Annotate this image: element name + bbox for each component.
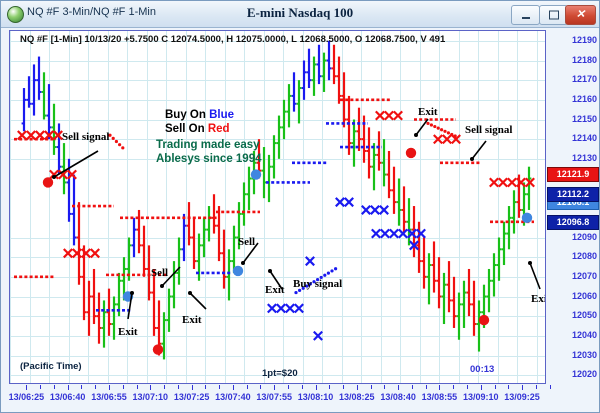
promo-red-word: Red [208,123,230,135]
time-axis-minor-tick [288,385,289,389]
time-axis-minor-tick [219,385,220,389]
time-axis-label: 13/08:10 [298,392,334,402]
price-axis-tick: 12020 [572,369,597,379]
promo-brand: Ablesys since 1994 [156,153,262,165]
time-axis-minor-tick [205,385,206,389]
trading-chart-window: NQ #F 3-Min/NQ #F 1-Min E-mini Nasdaq 10… [0,0,600,413]
price-axis-tick: 12030 [572,350,597,360]
time-axis-label: 13/07:25 [174,392,210,402]
timezone-label: (Pacific Time) [20,361,82,372]
close-button[interactable]: ✕ [565,5,596,25]
time-axis-tick [357,385,358,390]
time-axis-minor-tick [536,385,537,389]
time-axis-minor-tick [247,385,248,389]
minimize-icon [522,17,530,19]
time-axis-tick [233,385,234,390]
time-axis-minor-tick [495,385,496,389]
time-axis-label: 13/07:10 [133,392,169,402]
time-axis-minor-tick [426,385,427,389]
window-title-bar: NQ #F 3-Min/NQ #F 1-Min E-mini Nasdaq 10… [1,1,599,28]
time-axis-label: 13/07:55 [256,392,292,402]
promo-line-buy: Buy On Blue [165,109,234,121]
time-axis-label: 13/08:25 [339,392,375,402]
maximize-icon [549,11,559,20]
ablesys-logo-icon [7,6,24,23]
current-price-tag[interactable]: 12121.9 [547,167,599,182]
price-axis[interactable]: 1219012180121701216012150121401213012090… [547,30,599,384]
candlestick-series [10,31,546,384]
price-axis-tick: 12160 [572,94,597,104]
price-axis-tick: 12150 [572,114,597,124]
time-axis-minor-tick [467,385,468,389]
time-axis-label: 13/08:40 [380,392,416,402]
time-axis-tick [481,385,482,390]
close-icon: ✕ [576,10,585,21]
price-axis-tick: 12050 [572,310,597,320]
time-axis-tick [398,385,399,390]
promo-blue-word: Blue [209,109,234,121]
price-axis-tick: 12140 [572,133,597,143]
current-price-tag[interactable]: 12112.2 [547,187,599,202]
time-axis-tick [522,385,523,390]
time-axis-minor-tick [329,385,330,389]
price-axis-tick: 12130 [572,153,597,163]
annotation-label: Sell [238,236,255,248]
countdown-timer: 00:13 [470,364,494,375]
maximize-button[interactable] [539,5,568,25]
window-title-symbol: NQ #F 3-Min/NQ #F 1-Min [27,6,156,18]
time-axis-tick [192,385,193,390]
current-price-tag[interactable]: 12096.8 [547,215,599,230]
time-axis-minor-tick [164,385,165,389]
time-axis-minor-tick [302,385,303,389]
time-axis-tick [439,385,440,390]
price-axis-tick: 12080 [572,251,597,261]
annotation-label: Exit [531,293,546,305]
promo-line-sell: Sell On Red [165,123,230,135]
promo-buy-text: Buy On [165,109,209,121]
promo-sell-text: Sell On [165,123,208,135]
annotation-label: Sell signal [62,131,109,143]
annotation-label: Exit [182,314,202,326]
time-axis-minor-tick [123,385,124,389]
time-axis-label: 13/08:55 [422,392,458,402]
time-axis-minor-tick [81,385,82,389]
time-axis-label: 13/06:40 [50,392,86,402]
price-axis-tick: 12180 [572,55,597,65]
time-axis-minor-tick [95,385,96,389]
time-axis-tick [316,385,317,390]
annotation-label: Exit [418,106,438,118]
time-axis: 13/06:2513/06:4013/06:5513/07:1013/07:25… [9,385,546,411]
time-axis-label: 13/09:10 [463,392,499,402]
time-axis-minor-tick [371,385,372,389]
time-axis-minor-tick [384,385,385,389]
time-axis-minor-tick [137,385,138,389]
price-axis-tick: 12190 [572,35,597,45]
time-axis-minor-tick [260,385,261,389]
time-axis-tick [150,385,151,390]
time-axis-label: 13/06:25 [9,392,45,402]
chart-plot-area[interactable]: NQ #F [1-Min] 10/13/20 +5.7500 C 12074.5… [9,30,546,384]
time-axis-minor-tick [453,385,454,389]
time-axis-tick [274,385,275,390]
annotation-label: Exit [118,326,138,338]
price-axis-tick: 12070 [572,271,597,281]
promo-tagline: Trading made easy [156,139,260,151]
ohlc-info-line: NQ #F [1-Min] 10/13/20 +5.7500 C 12074.5… [20,34,445,45]
price-axis-tick: 12170 [572,74,597,84]
time-axis-minor-tick [508,385,509,389]
time-axis-minor-tick [54,385,55,389]
time-axis-tick [26,385,27,390]
time-axis-label: 13/09:25 [504,392,540,402]
annotation-label: Exit [265,284,285,296]
time-axis-minor-tick [412,385,413,389]
time-axis-tick [68,385,69,390]
time-axis-label: 13/07:40 [215,392,251,402]
time-axis-minor-tick [178,385,179,389]
minimize-button[interactable] [511,5,540,25]
time-axis-minor-tick [40,385,41,389]
price-axis-tick: 12040 [572,330,597,340]
time-axis-tick [109,385,110,390]
price-axis-tick: 12060 [572,291,597,301]
annotation-label: Buy signal [293,278,342,290]
annotation-label: Sell signal [465,124,512,136]
price-axis-tick: 12090 [572,232,597,242]
time-axis-label: 13/06:55 [91,392,127,402]
time-axis-minor-tick [550,385,551,389]
annotation-label: Sell [151,267,168,279]
point-value-label: 1pt=$20 [262,368,298,379]
time-axis-minor-tick [343,385,344,389]
